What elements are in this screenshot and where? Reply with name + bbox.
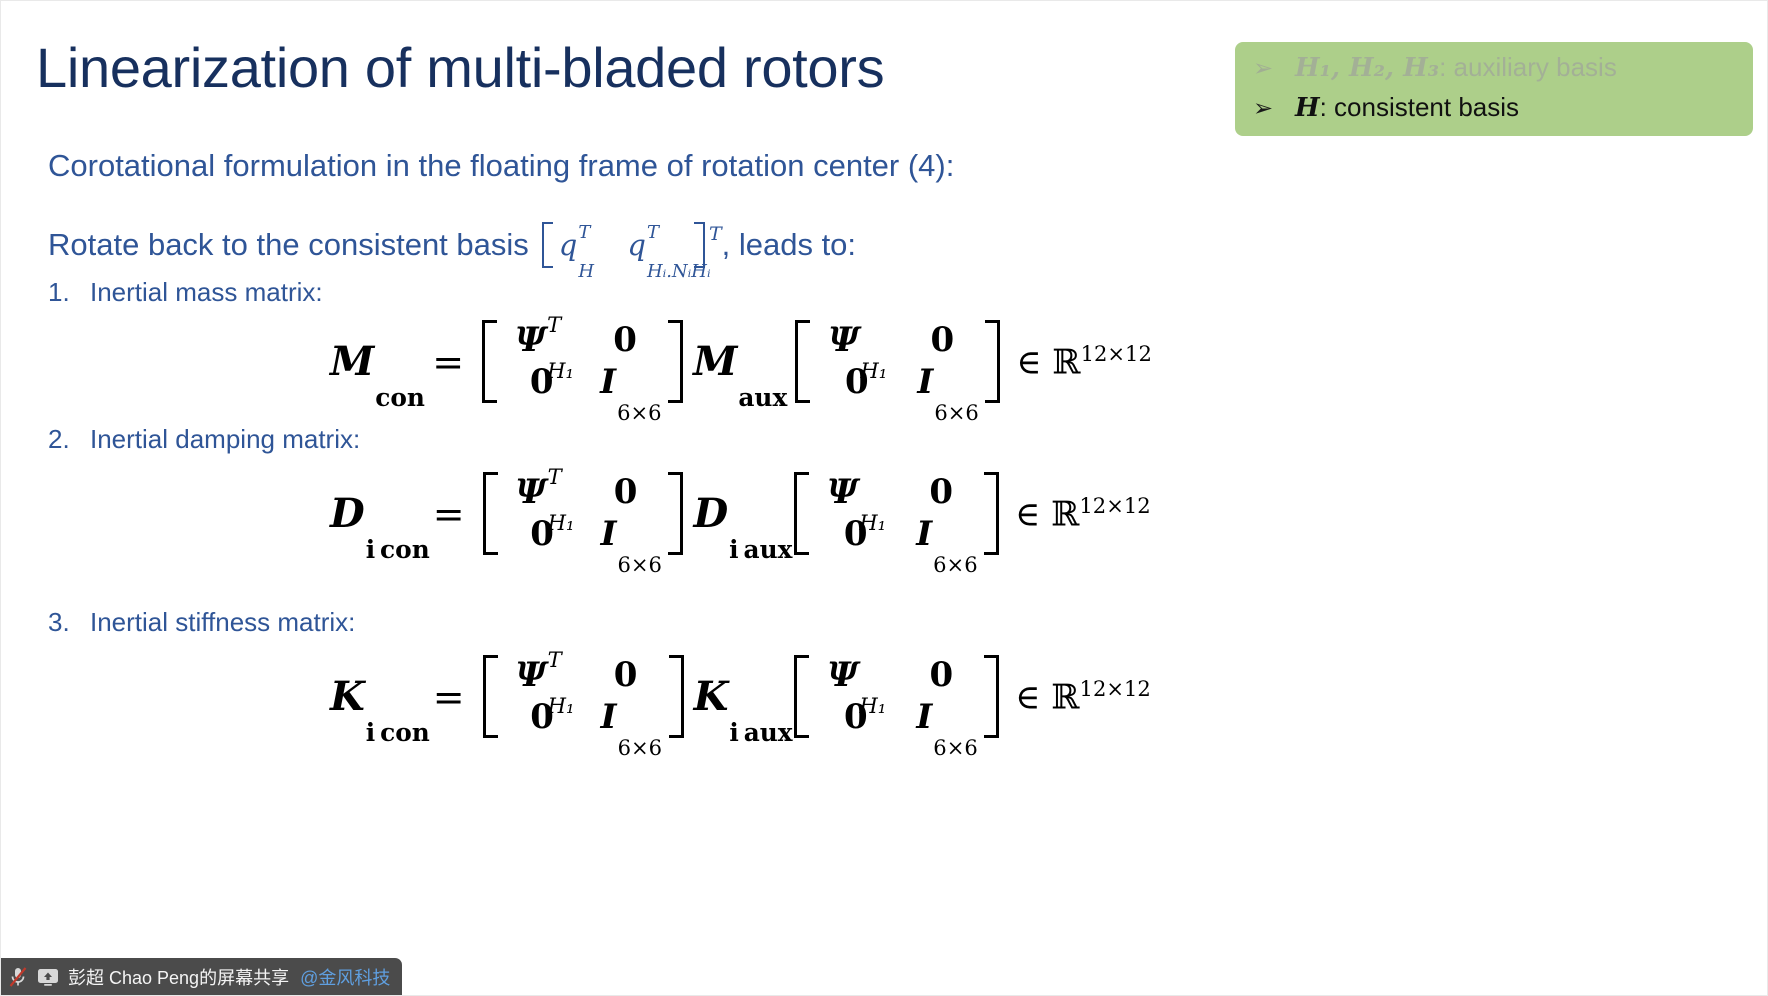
legend-symbol: H₁, H₂, H₃	[1295, 53, 1439, 83]
legend-item-text: H: consistent basis	[1295, 92, 1739, 123]
right-transform-matrix: ΨH₁ 0 0 I6×6	[795, 320, 1000, 403]
arrow-bullet-icon: ➢	[1253, 57, 1295, 81]
matrix-cell: 0	[585, 655, 667, 697]
list-item-inertial-mass: 1. Inertial mass matrix:	[48, 277, 323, 308]
matrix-cell: 0	[811, 697, 900, 739]
microphone-muted-icon[interactable]	[8, 966, 28, 988]
matrix-cell: I6×6	[585, 697, 667, 739]
vector-cell-1: qTH	[559, 228, 594, 262]
page-title: Linearization of multi-bladed rotors	[36, 36, 1196, 100]
matrix-cell: ΨH₁	[812, 320, 901, 362]
equals-sign: =	[433, 492, 465, 536]
rotate-back-suffix: , leads to:	[722, 227, 856, 263]
matrix-cell: 0	[900, 472, 982, 514]
equation-core-matrix: Maux	[693, 338, 785, 385]
legend-callout: ➢ H₁, H₂, H₃: auxiliary basis ➢ H: consi…	[1235, 42, 1753, 136]
equation-membership: ∈ ℝ12×12	[1015, 676, 1151, 717]
screen-share-status-bar[interactable]: 彭超 Chao Peng的屏幕共享 @金风科技	[0, 958, 402, 996]
list-item-number: 2.	[48, 424, 90, 455]
equation-membership: ∈ ℝ12×12	[1015, 493, 1151, 534]
right-transform-matrix: ΨH₁ 0 0 I6×6	[794, 655, 999, 738]
legend-item-auxiliary-basis: ➢ H₁, H₂, H₃: auxiliary basis	[1253, 52, 1739, 92]
list-item-label: Inertial damping matrix:	[90, 424, 360, 455]
right-transform-matrix: ΨH₁ 0 0 I6×6	[794, 472, 999, 555]
legend-description: : auxiliary basis	[1439, 52, 1617, 82]
arrow-bullet-icon: ➢	[1253, 97, 1295, 121]
equation-inertial-mass: Mcon = ΨTH₁ 0 0 I6×6 Maux ΨH₁	[330, 320, 1152, 403]
legend-item-text: H₁, H₂, H₃: auxiliary basis	[1295, 52, 1739, 83]
consistent-basis-vector: qTH qTHᵢ.NᵢHᵢ T	[539, 222, 722, 268]
matrix-cell: 0	[901, 320, 983, 362]
matrix-cell: I6×6	[584, 362, 666, 404]
equation-core-matrix: Di aux	[693, 490, 784, 537]
equation-inertial-damping: Di con = ΨTH₁ 0 0 I6×6 Di aux ΨH₁	[330, 472, 1151, 555]
matrix-cell: 0	[584, 320, 666, 362]
share-organization-label: @金风科技	[300, 964, 390, 990]
equation-lhs: Mcon	[330, 338, 418, 385]
matrix-cell: ΨH₁	[811, 655, 900, 697]
left-transform-matrix: ΨTH₁ 0 0 I6×6	[483, 472, 684, 555]
rotate-back-line: Rotate back to the consistent basis qTH …	[48, 222, 856, 268]
matrix-cell: 0	[900, 655, 982, 697]
list-item-inertial-stiffness: 3. Inertial stiffness matrix:	[48, 607, 355, 638]
equation-inertial-stiffness: Ki con = ΨTH₁ 0 0 I6×6 Ki aux ΨH₁	[330, 655, 1151, 738]
matrix-cell: I6×6	[901, 362, 983, 404]
list-item-number: 1.	[48, 277, 90, 308]
vector-transpose-exponent: T	[709, 223, 722, 245]
equation-lhs: Ki con	[330, 673, 419, 720]
rotate-back-prefix: Rotate back to the consistent basis	[48, 227, 529, 263]
matrix-cell: I6×6	[585, 514, 667, 556]
matrix-cell: I6×6	[900, 697, 982, 739]
left-transform-matrix: ΨTH₁ 0 0 I6×6	[482, 320, 683, 403]
list-item-label: Inertial mass matrix:	[90, 277, 323, 308]
list-item-label: Inertial stiffness matrix:	[90, 607, 355, 638]
matrix-cell: 0	[812, 362, 901, 404]
equals-sign: =	[433, 675, 465, 719]
matrix-cell: ΨH₁	[811, 472, 900, 514]
left-transform-matrix: ΨTH₁ 0 0 I6×6	[483, 655, 684, 738]
vector-cell-2: qTHᵢ.NᵢHᵢ	[627, 228, 688, 262]
matrix-cell: ΨTH₁	[500, 655, 585, 697]
legend-item-consistent-basis: ➢ H: consistent basis	[1253, 92, 1739, 132]
share-presenter-label: 彭超 Chao Peng的屏幕共享	[68, 964, 289, 990]
equation-core-matrix: Ki aux	[694, 673, 785, 720]
matrix-cell: ΨTH₁	[499, 320, 584, 362]
equals-sign: =	[432, 340, 464, 384]
legend-description: : consistent basis	[1320, 92, 1519, 122]
screen-share-icon[interactable]	[37, 967, 59, 987]
matrix-cell: 0	[811, 514, 900, 556]
subtitle: Corotational formulation in the floating…	[48, 148, 954, 184]
matrix-cell: I6×6	[900, 514, 982, 556]
legend-symbol: H	[1295, 93, 1320, 123]
equation-lhs: Di con	[330, 490, 419, 537]
list-item-inertial-damping: 2. Inertial damping matrix:	[48, 424, 360, 455]
matrix-cell: ΨTH₁	[500, 472, 585, 514]
matrix-cell: 0	[585, 472, 667, 514]
slide-canvas: Linearization of multi-bladed rotors ➢ H…	[0, 0, 1768, 996]
list-item-number: 3.	[48, 607, 90, 638]
equation-membership: ∈ ℝ12×12	[1016, 341, 1152, 382]
